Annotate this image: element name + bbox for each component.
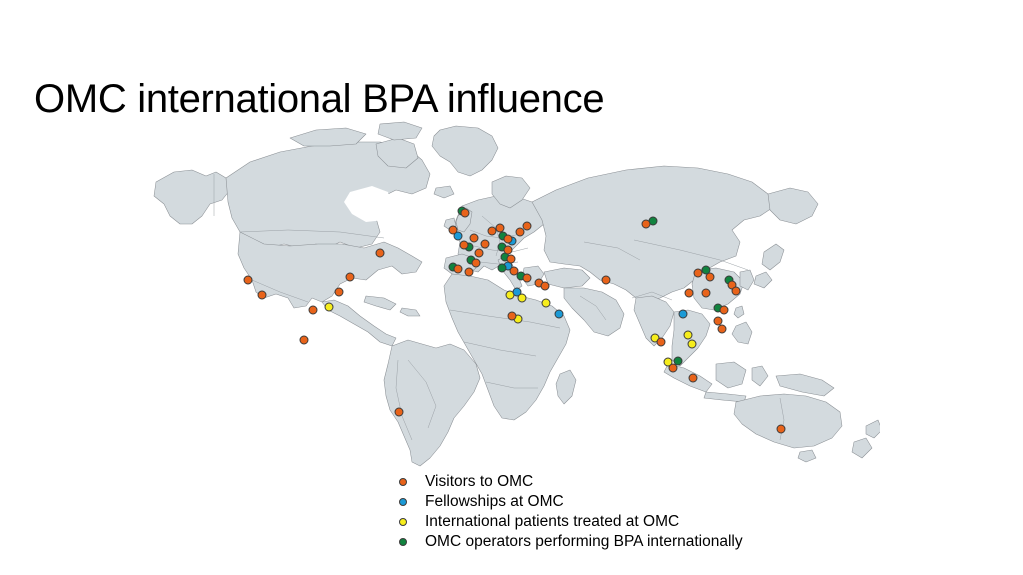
map-marker-visitors[interactable] — [461, 209, 470, 218]
map-marker-visitors[interactable] — [376, 249, 385, 258]
legend-item-fellowships: Fellowships at OMC — [399, 492, 919, 511]
ellesmere-shape — [378, 122, 422, 140]
map-marker-patients[interactable] — [542, 299, 551, 308]
map-marker-visitors[interactable] — [309, 306, 318, 315]
map-marker-visitors[interactable] — [523, 222, 532, 231]
hispaniola-shape — [400, 308, 420, 316]
map-marker-visitors[interactable] — [258, 291, 267, 300]
map-marker-fellowships[interactable] — [555, 310, 564, 319]
map-marker-visitors[interactable] — [702, 289, 711, 298]
presentation-slide: OMC international BPA influence — [0, 0, 1023, 575]
map-marker-visitors[interactable] — [472, 259, 481, 268]
arctic-islands-shape — [290, 128, 366, 146]
map-marker-visitors[interactable] — [475, 249, 484, 258]
map-marker-visitors[interactable] — [454, 265, 463, 274]
sulawesi-shape — [752, 366, 768, 386]
arabia-shape — [564, 288, 624, 336]
map-marker-visitors[interactable] — [496, 224, 505, 233]
turkey-shape — [544, 268, 590, 288]
japan-south-shape — [754, 272, 772, 288]
legend-item-patients: International patients treated at OMC — [399, 512, 919, 531]
map-marker-visitors[interactable] — [504, 235, 513, 244]
greenland-shape — [432, 126, 498, 176]
map-marker-visitors[interactable] — [541, 282, 550, 291]
map-marker-patients[interactable] — [325, 303, 334, 312]
borneo-shape — [716, 362, 746, 388]
java-shape — [704, 392, 746, 402]
map-marker-visitors[interactable] — [508, 312, 517, 321]
map-marker-visitors[interactable] — [346, 273, 355, 282]
taiwan-shape — [734, 306, 744, 318]
map-marker-visitors[interactable] — [460, 241, 469, 250]
map-marker-visitors[interactable] — [335, 288, 344, 297]
map-marker-visitors[interactable] — [669, 364, 678, 373]
tasmania-shape — [798, 450, 816, 462]
map-marker-visitors[interactable] — [685, 289, 694, 298]
alaska-shape — [154, 170, 230, 224]
map-marker-visitors[interactable] — [657, 338, 666, 347]
map-marker-visitors[interactable] — [449, 226, 458, 235]
map-marker-visitors[interactable] — [481, 240, 490, 249]
map-marker-visitors[interactable] — [507, 255, 516, 264]
legend-label: Visitors to OMC — [425, 472, 533, 491]
map-marker-visitors[interactable] — [602, 276, 611, 285]
map-marker-visitors[interactable] — [470, 234, 479, 243]
new-guinea-shape — [776, 374, 834, 396]
page-title: OMC international BPA influence — [34, 75, 604, 123]
iceland-shape — [434, 186, 454, 198]
new-zealand-north-shape — [866, 420, 880, 438]
map-marker-visitors[interactable] — [732, 287, 741, 296]
map-marker-patients[interactable] — [688, 340, 697, 349]
map-marker-visitors[interactable] — [694, 269, 703, 278]
map-marker-visitors[interactable] — [244, 276, 253, 285]
legend-item-operators: OMC operators performing BPA internation… — [399, 532, 919, 551]
map-marker-operators[interactable] — [498, 264, 507, 273]
map-marker-visitors[interactable] — [523, 274, 532, 283]
map-marker-visitors[interactable] — [510, 267, 519, 276]
legend: Visitors to OMCFellowships at OMCInterna… — [399, 472, 919, 552]
map-marker-visitors[interactable] — [300, 336, 309, 345]
map-marker-visitors[interactable] — [689, 374, 698, 383]
australia-shape — [734, 394, 842, 448]
map-marker-patients[interactable] — [518, 294, 527, 303]
legend-item-visitors: Visitors to OMC — [399, 472, 919, 491]
map-marker-visitors[interactable] — [642, 220, 651, 229]
japan-shape — [762, 244, 784, 270]
map-marker-patients[interactable] — [684, 331, 693, 340]
madagascar-shape — [556, 370, 576, 404]
korea-shape — [740, 270, 754, 290]
map-marker-visitors[interactable] — [777, 425, 786, 434]
world-map — [140, 120, 880, 470]
map-marker-visitors[interactable] — [504, 246, 513, 255]
kamchatka-shape — [768, 188, 818, 224]
legend-label: OMC operators performing BPA internation… — [425, 532, 743, 551]
map-marker-fellowships[interactable] — [679, 310, 688, 319]
south-america-shape — [384, 340, 480, 466]
legend-swatch-operators-icon — [399, 538, 407, 546]
map-marker-visitors[interactable] — [395, 408, 404, 417]
legend-swatch-visitors-icon — [399, 478, 407, 486]
map-marker-visitors[interactable] — [465, 268, 474, 277]
map-marker-visitors[interactable] — [706, 273, 715, 282]
map-marker-visitors[interactable] — [718, 325, 727, 334]
new-zealand-south-shape — [852, 438, 872, 458]
legend-swatch-patients-icon — [399, 518, 407, 526]
legend-label: International patients treated at OMC — [425, 512, 679, 531]
cuba-shape — [364, 296, 396, 310]
map-marker-visitors[interactable] — [720, 306, 729, 315]
philippines-shape — [732, 322, 752, 344]
legend-label: Fellowships at OMC — [425, 492, 564, 511]
legend-swatch-fellowships-icon — [399, 498, 407, 506]
